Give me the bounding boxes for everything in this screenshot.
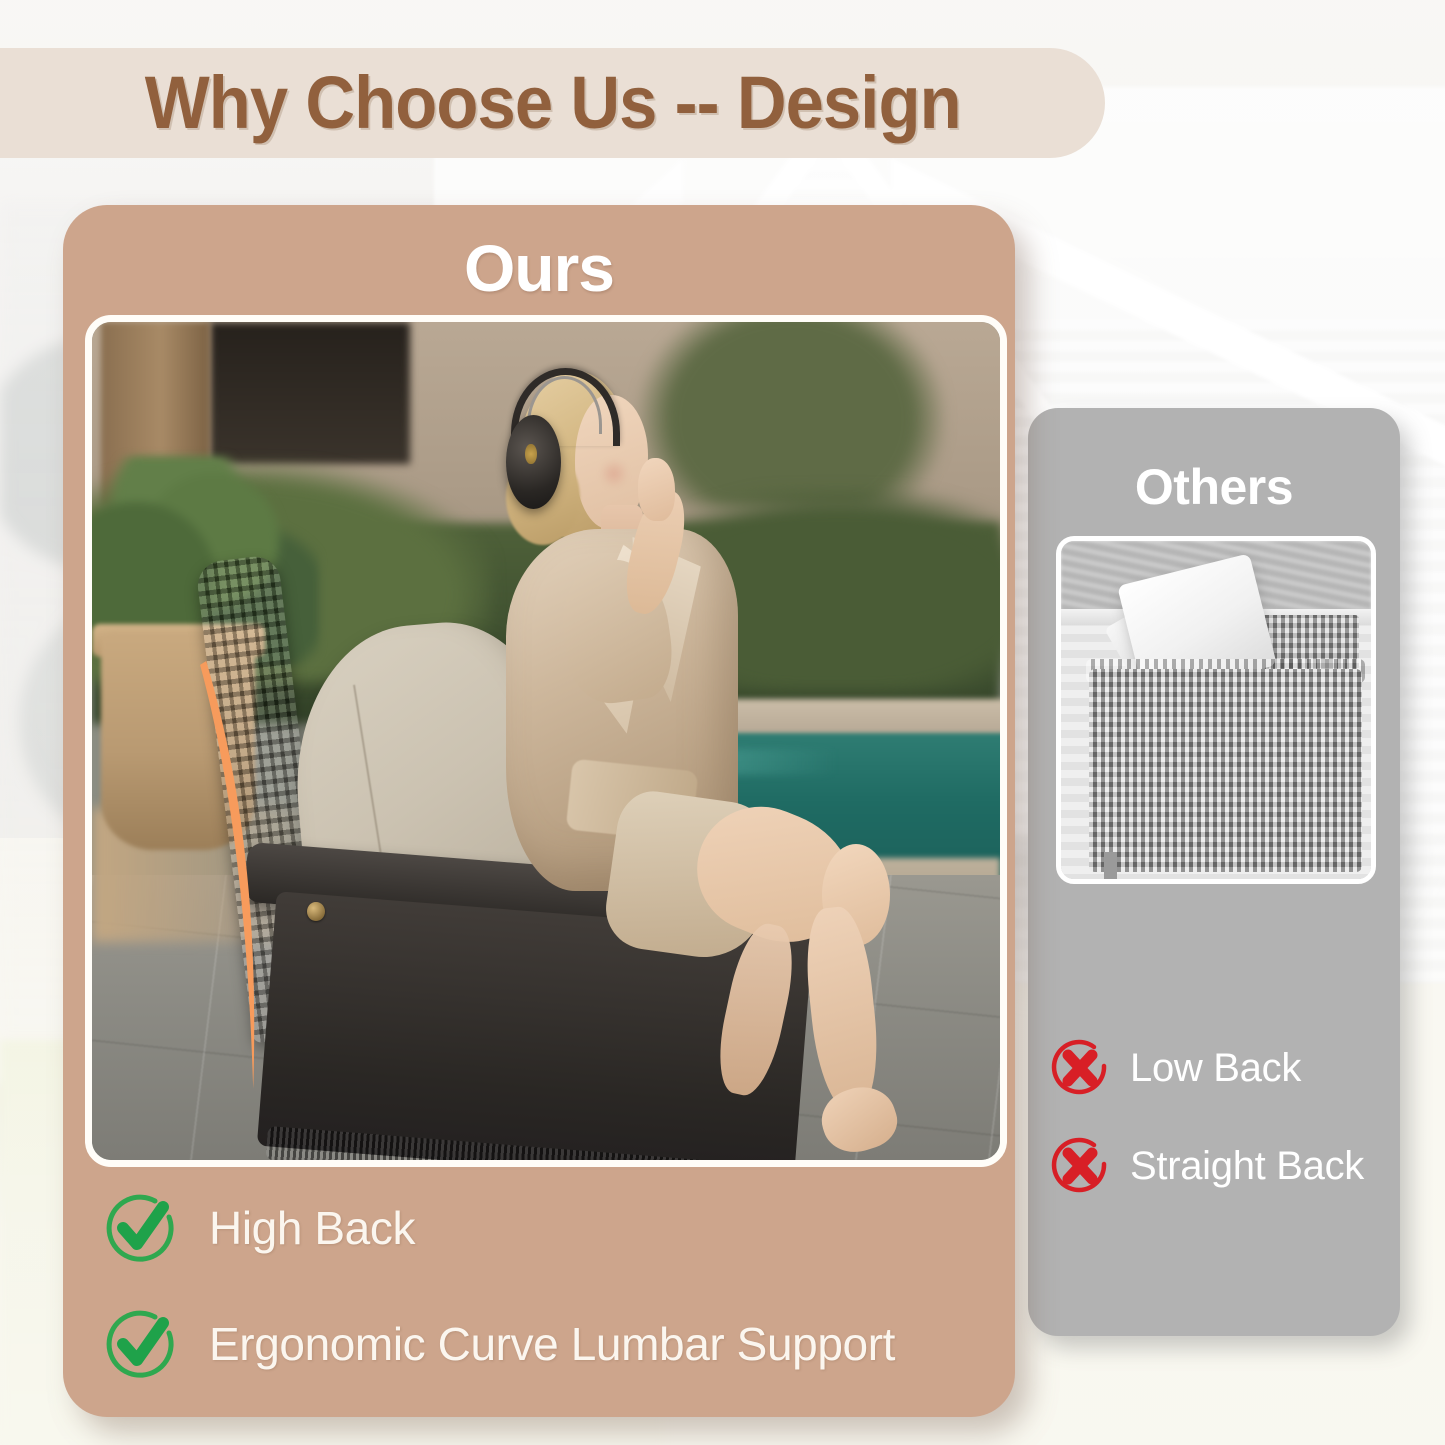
others-heading: Others: [1028, 458, 1400, 516]
x-icon: [1050, 1038, 1110, 1098]
x-icon: [1050, 1136, 1110, 1196]
list-item: Straight Back: [1050, 1136, 1390, 1196]
list-item: Low Back: [1050, 1038, 1390, 1098]
person-cheek: [601, 458, 627, 490]
ours-photo-scene: [92, 322, 1000, 1160]
others-sofa-body: [1089, 669, 1362, 872]
drawback-label: Low Back: [1130, 1046, 1301, 1091]
chair-brass-stud: [307, 902, 325, 921]
feature-label: High Back: [209, 1201, 415, 1255]
others-sofa-leg: [1104, 852, 1116, 884]
ours-feature-list: High Back Ergonomic Curve Lumbar Support: [103, 1190, 995, 1422]
drawback-label: Straight Back: [1130, 1144, 1364, 1189]
scene-doorway: [210, 322, 410, 464]
check-icon: [103, 1306, 179, 1382]
others-panel: Others Low Back: [1028, 408, 1400, 1336]
others-photo-scene: [1061, 541, 1371, 879]
page-title: Why Choose Us -- Design: [145, 66, 961, 140]
ours-panel: Ours: [63, 205, 1015, 1417]
ergonomic-curve-highlight-icon: [196, 657, 278, 1093]
list-item: High Back: [103, 1190, 995, 1266]
person-hand: [638, 458, 675, 521]
title-banner: Why Choose Us -- Design: [0, 48, 1105, 158]
headphones-logo: [525, 444, 537, 464]
others-drawback-list: Low Back Straight Back: [1050, 1038, 1390, 1234]
others-product-photo: [1056, 536, 1376, 884]
model-person: [401, 356, 928, 1144]
ours-product-photo: [85, 315, 1007, 1167]
infographic-canvas: Why Choose Us -- Design Others: [0, 0, 1445, 1445]
check-icon: [103, 1190, 179, 1266]
feature-label: Ergonomic Curve Lumbar Support: [209, 1317, 895, 1371]
list-item: Ergonomic Curve Lumbar Support: [103, 1306, 995, 1382]
ours-heading: Ours: [63, 230, 1015, 306]
